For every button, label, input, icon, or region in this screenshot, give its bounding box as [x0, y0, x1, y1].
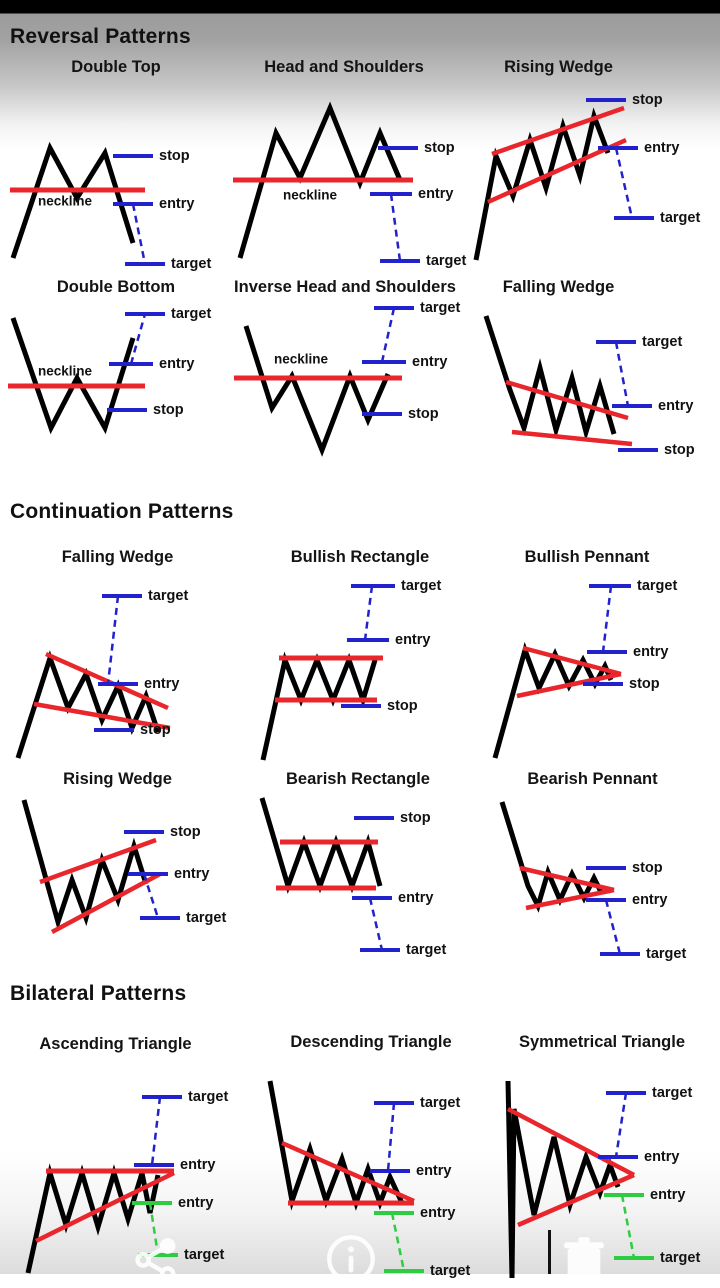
- stop-label: stop: [140, 722, 171, 738]
- measured-move-connector: [133, 204, 145, 264]
- pattern-diagram-falling-wedge-continuation: target entry stop: [10, 568, 250, 763]
- pattern-title-inverse-head-and-shoulders: Inverse Head and Shoulders: [216, 278, 474, 297]
- pattern-title-descending-triangle: Descending Triangle: [262, 1033, 480, 1052]
- pattern-title-double-top: Double Top: [5, 58, 227, 77]
- bullish-target-label: target: [188, 1089, 228, 1105]
- measured-move-connector: [365, 586, 372, 640]
- pattern-title-rising-wedge-reversal: Rising Wedge: [466, 58, 651, 77]
- bearish-entry-label: entry: [650, 1187, 685, 1203]
- bullish-target-label: target: [652, 1085, 692, 1101]
- bearish-entry-label: entry: [178, 1195, 213, 1211]
- pattern-card-ascending-triangle: Ascending Triangle target entry entry ta…: [8, 1035, 248, 1270]
- bullish-measured-move-connector: [616, 1093, 626, 1157]
- section-heading-continuation: Continuation Patterns: [10, 500, 234, 524]
- pattern-card-rising-wedge-reversal: Rising Wedge stop entry target: [466, 58, 716, 258]
- target-label: target: [642, 334, 682, 350]
- bearish-target-label: target: [660, 1250, 700, 1266]
- pattern-diagram-head-and-shoulders: stop entry target neckline: [228, 78, 460, 263]
- neckline-label: neckline: [38, 194, 93, 209]
- bullish-target-label: target: [420, 1095, 460, 1111]
- target-label: target: [406, 942, 446, 958]
- target-label: target: [646, 946, 686, 962]
- pattern-diagram-bearish-rectangle: stop entry target: [252, 790, 488, 975]
- measured-move-connector: [616, 342, 628, 406]
- pattern-title-rising-wedge-continuation: Rising Wedge: [10, 770, 225, 789]
- pattern-title-symmetrical-triangle: Symmetrical Triangle: [492, 1033, 712, 1052]
- entry-label: entry: [658, 398, 693, 414]
- pattern-title-bullish-pennant: Bullish Pennant: [487, 548, 687, 567]
- neckline-label: neckline: [274, 352, 329, 367]
- bullish-measured-move-connector: [152, 1097, 160, 1165]
- bearish-target-label: target: [184, 1247, 224, 1263]
- pattern-title-falling-wedge-continuation: Falling Wedge: [10, 548, 225, 567]
- stop-label: stop: [408, 406, 439, 422]
- pattern-card-bearish-pennant: Bearish Pennant stop entry target: [490, 770, 720, 970]
- measured-move-connector: [391, 194, 400, 261]
- price-line: [263, 660, 375, 760]
- pattern-diagram-double-top: stop entry target neckline: [5, 78, 227, 263]
- entry-label: entry: [395, 632, 430, 648]
- pattern-card-rising-wedge-continuation: Rising Wedge stop entry target: [10, 770, 250, 970]
- stop-label: stop: [664, 442, 695, 458]
- pattern-diagram-falling-wedge-reversal: target entry stop: [466, 298, 716, 483]
- section-heading-reversal: Reversal Patterns: [10, 25, 191, 49]
- measured-move-connector: [616, 148, 632, 218]
- entry-label: entry: [398, 890, 433, 906]
- pattern-diagram-descending-triangle: target entry entry target: [262, 1053, 492, 1278]
- bullish-entry-label: entry: [180, 1157, 215, 1173]
- stop-label: stop: [629, 676, 660, 692]
- entry-label: entry: [159, 356, 194, 372]
- pattern-diagram-symmetrical-triangle: target entry entry target: [492, 1053, 720, 1278]
- infographic-page: Reversal Patterns Continuation Patterns …: [0, 0, 720, 1274]
- measured-move-connector: [603, 586, 611, 652]
- pattern-card-symmetrical-triangle: Symmetrical Triangle target entry entry …: [492, 1033, 720, 1273]
- target-label: target: [426, 253, 466, 269]
- pattern-title-head-and-shoulders: Head and Shoulders: [228, 58, 460, 77]
- pattern-diagram-bearish-pennant: stop entry target: [490, 790, 720, 975]
- pattern-card-inverse-head-and-shoulders: Inverse Head and Shoulders entry target …: [216, 278, 474, 478]
- pattern-diagram-rising-wedge-reversal: stop entry target: [466, 78, 716, 263]
- pattern-card-bearish-rectangle: Bearish Rectangle stop entry target: [252, 770, 488, 970]
- target-label: target: [171, 306, 211, 322]
- bearish-measured-move-connector: [622, 1195, 634, 1258]
- bullish-entry-label: entry: [644, 1149, 679, 1165]
- entry-label: entry: [174, 866, 209, 882]
- section-heading-bilateral: Bilateral Patterns: [10, 982, 186, 1006]
- neckline-label: neckline: [283, 188, 338, 203]
- stop-label: stop: [170, 824, 201, 840]
- pattern-card-bullish-pennant: Bullish Pennant target entry stop: [487, 548, 720, 758]
- price-line: [24, 800, 146, 922]
- pattern-card-falling-wedge-reversal: Falling Wedge target entry stop: [466, 278, 716, 478]
- pattern-card-double-bottom: Double Bottom entry target stop neckline: [5, 278, 227, 478]
- pattern-diagram-bullish-rectangle: target entry stop: [255, 568, 485, 763]
- target-label: target: [660, 210, 700, 226]
- stop-label: stop: [387, 698, 418, 714]
- pattern-card-descending-triangle: Descending Triangle target entry entry t…: [262, 1033, 492, 1273]
- pattern-diagram-ascending-triangle: target entry entry target: [8, 1055, 248, 1275]
- pattern-title-falling-wedge-reversal: Falling Wedge: [466, 278, 651, 297]
- stop-label: stop: [400, 810, 431, 826]
- measured-move-connector: [370, 898, 382, 950]
- price-line: [246, 326, 388, 450]
- neckline-label: neckline: [38, 364, 93, 379]
- target-label: target: [637, 578, 677, 594]
- bearish-target-label: target: [430, 1263, 470, 1279]
- bullish-measured-move-connector: [388, 1103, 394, 1171]
- pattern-title-double-bottom: Double Bottom: [5, 278, 227, 297]
- stop-label: stop: [632, 92, 663, 108]
- target-label: target: [401, 578, 441, 594]
- measured-move-connector: [108, 596, 118, 684]
- target-label: target: [420, 300, 460, 316]
- pattern-diagram-inverse-head-and-shoulders: entry target stop neckline: [216, 298, 474, 483]
- price-line: [508, 1081, 618, 1278]
- price-line: [486, 316, 614, 434]
- entry-label: entry: [632, 892, 667, 908]
- pattern-title-ascending-triangle: Ascending Triangle: [8, 1035, 223, 1054]
- pattern-title-bearish-pennant: Bearish Pennant: [490, 770, 695, 789]
- pattern-title-bearish-rectangle: Bearish Rectangle: [252, 770, 464, 789]
- pattern-card-head-and-shoulders: Head and Shoulders stop entry target nec…: [228, 58, 460, 258]
- entry-label: entry: [633, 644, 668, 660]
- measured-move-connector: [606, 900, 620, 954]
- pattern-card-falling-wedge-continuation: Falling Wedge target entry stop: [10, 548, 250, 758]
- measured-move-connector: [382, 308, 394, 362]
- pattern-card-double-top: Double Top stop entry target neckline: [5, 58, 227, 258]
- stop-label: stop: [153, 402, 184, 418]
- pattern-diagram-double-bottom: entry target stop neckline: [5, 298, 227, 483]
- pattern-diagram-rising-wedge-continuation: stop entry target: [10, 790, 250, 975]
- pattern-title-bullish-rectangle: Bullish Rectangle: [255, 548, 465, 567]
- target-label: target: [148, 588, 188, 604]
- bearish-measured-move-connector: [392, 1213, 404, 1271]
- stop-label: stop: [632, 860, 663, 876]
- pattern-diagram-bullish-pennant: target entry stop: [487, 568, 720, 763]
- target-label: target: [171, 256, 211, 272]
- stop-label: stop: [424, 140, 455, 156]
- entry-label: entry: [418, 186, 453, 202]
- entry-label: entry: [644, 140, 679, 156]
- bullish-entry-label: entry: [416, 1163, 451, 1179]
- bearish-entry-label: entry: [420, 1205, 455, 1221]
- pattern-card-bullish-rectangle: Bullish Rectangle target entry stop: [255, 548, 485, 758]
- price-line: [502, 802, 602, 906]
- entry-label: entry: [144, 676, 179, 692]
- target-label: target: [186, 910, 226, 926]
- stop-label: stop: [159, 148, 190, 164]
- lower-trendline: [52, 874, 160, 932]
- entry-label: entry: [412, 354, 447, 370]
- price-line: [240, 108, 400, 258]
- entry-label: entry: [159, 196, 194, 212]
